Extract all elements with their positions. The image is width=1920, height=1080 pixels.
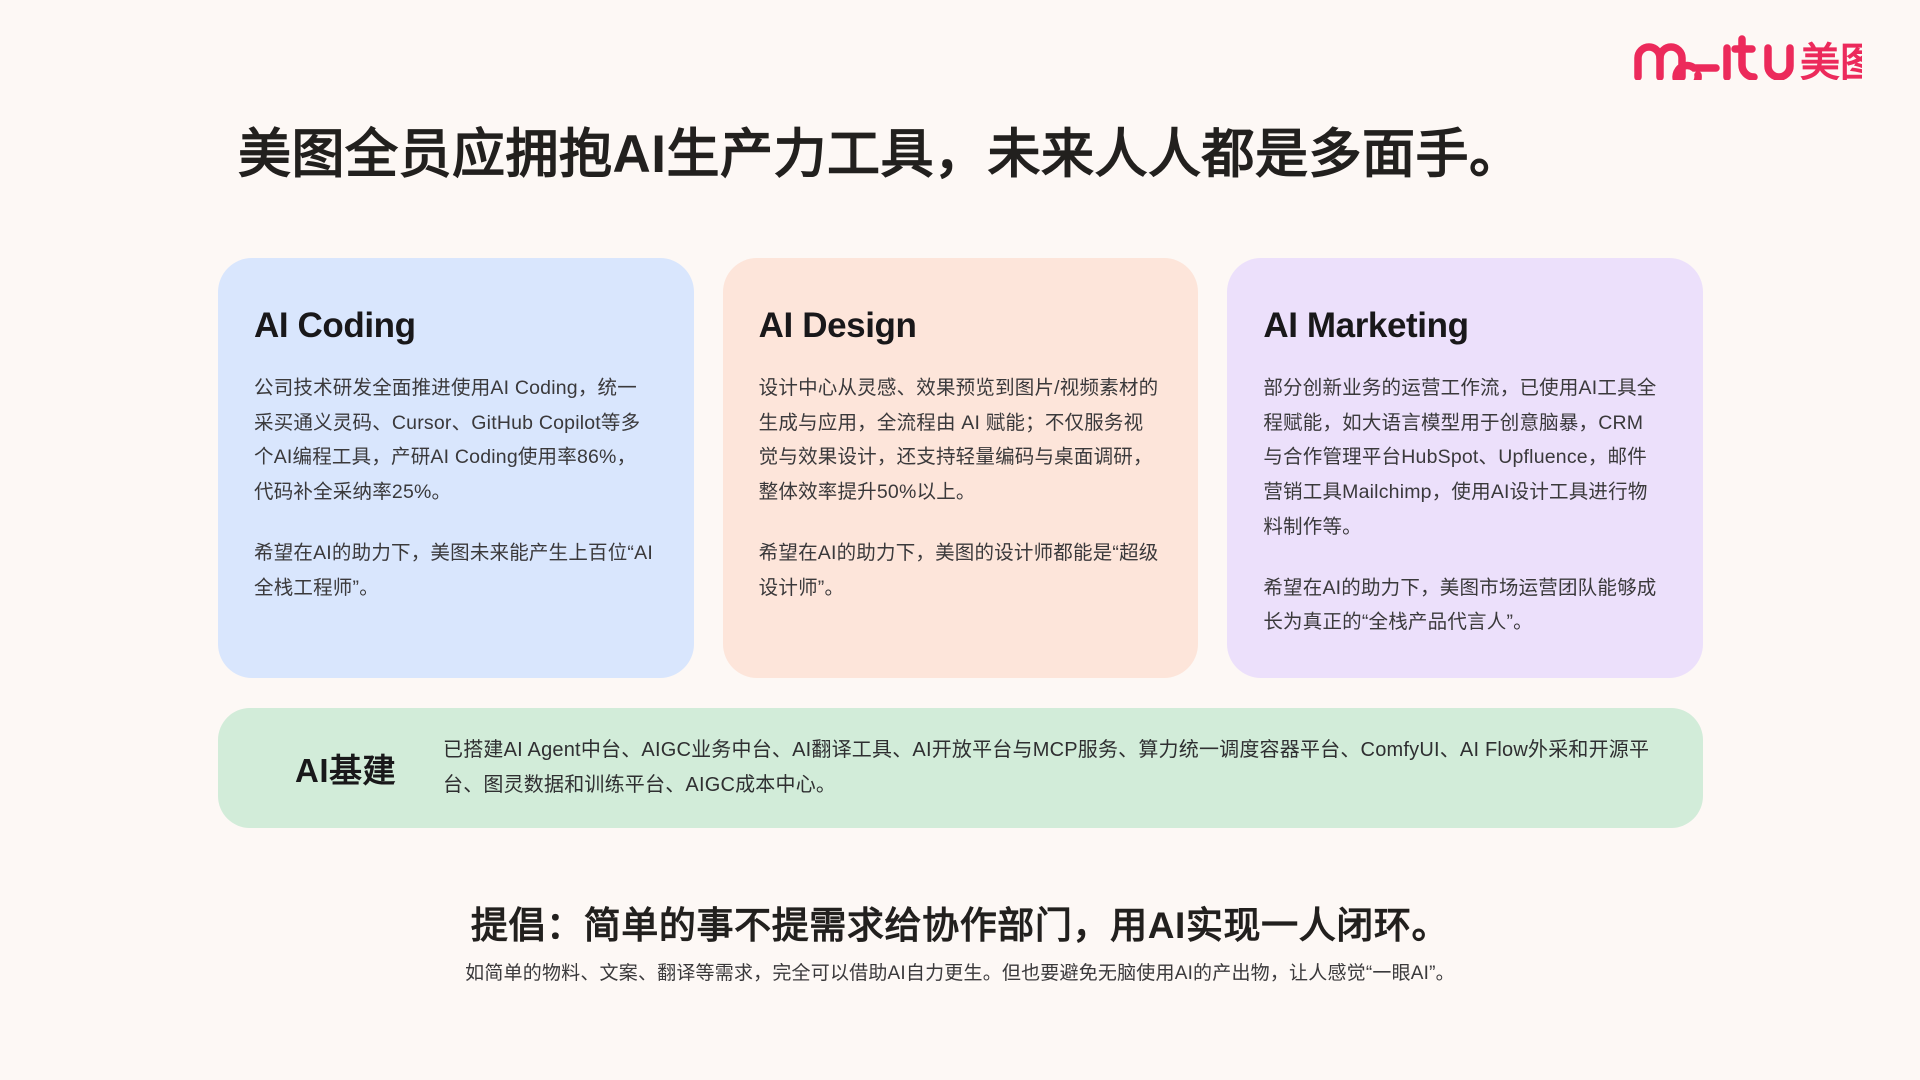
card-ai-coding: AI Coding 公司技术研发全面推进使用AI Coding，统一采买通义灵码…: [218, 258, 694, 678]
card-paragraph: 公司技术研发全面推进使用AI Coding，统一采买通义灵码、Cursor、Gi…: [254, 371, 656, 510]
card-title-ai-marketing: AI Marketing: [1263, 306, 1665, 346]
meitu-logo-icon: 美图: [1632, 34, 1862, 80]
infra-label: AI基建: [258, 744, 433, 792]
card-body-ai-marketing: 部分创新业务的运营工作流，已使用AI工具全程赋能，如大语言模型用于创意脑暴，CR…: [1263, 371, 1665, 640]
card-title-ai-coding: AI Coding: [254, 306, 656, 346]
page-title: 美图全员应拥抱AI生产力工具，未来人人都是多面手。: [238, 112, 1523, 188]
card-paragraph: 希望在AI的助力下，美图的设计师都能是“超级设计师”。: [759, 536, 1161, 605]
card-ai-marketing: AI Marketing 部分创新业务的运营工作流，已使用AI工具全程赋能，如大…: [1227, 258, 1703, 678]
card-paragraph: 部分创新业务的运营工作流，已使用AI工具全程赋能，如大语言模型用于创意脑暴，CR…: [1263, 371, 1665, 545]
card-paragraph: 设计中心从灵感、效果预览到图片/视频素材的生成与应用，全流程由 AI 赋能；不仅…: [759, 371, 1161, 510]
card-paragraph: 希望在AI的助力下，美图市场运营团队能够成长为真正的“全栈产品代言人”。: [1263, 571, 1665, 640]
footer-slogan: 提倡：简单的事不提需求给协作部门，用AI实现一人闭环。: [0, 895, 1920, 949]
slide-root: 美图 美图全员应拥抱AI生产力工具，未来人人都是多面手。 AI Coding 公…: [0, 0, 1920, 1080]
card-title-ai-design: AI Design: [759, 306, 1161, 346]
footer-subslogan: 如简单的物料、文案、翻译等需求，完全可以借助AI自力更生。但也要避免无脑使用AI…: [0, 958, 1920, 985]
meitu-logo: 美图: [1632, 34, 1862, 80]
svg-text:美图: 美图: [1800, 41, 1862, 80]
card-ai-design: AI Design 设计中心从灵感、效果预览到图片/视频素材的生成与应用，全流程…: [723, 258, 1199, 678]
cards-row: AI Coding 公司技术研发全面推进使用AI Coding，统一采买通义灵码…: [218, 258, 1703, 678]
card-body-ai-design: 设计中心从灵感、效果预览到图片/视频素材的生成与应用，全流程由 AI 赋能；不仅…: [759, 371, 1161, 605]
card-paragraph: 希望在AI的助力下，美图未来能产生上百位“AI全栈工程师”。: [254, 536, 656, 605]
card-body-ai-coding: 公司技术研发全面推进使用AI Coding，统一采买通义灵码、Cursor、Gi…: [254, 371, 656, 605]
infra-text: 已搭建AI Agent中台、AIGC业务中台、AI翻译工具、AI开放平台与MCP…: [433, 733, 1663, 803]
infra-banner: AI基建 已搭建AI Agent中台、AIGC业务中台、AI翻译工具、AI开放平…: [218, 708, 1703, 828]
